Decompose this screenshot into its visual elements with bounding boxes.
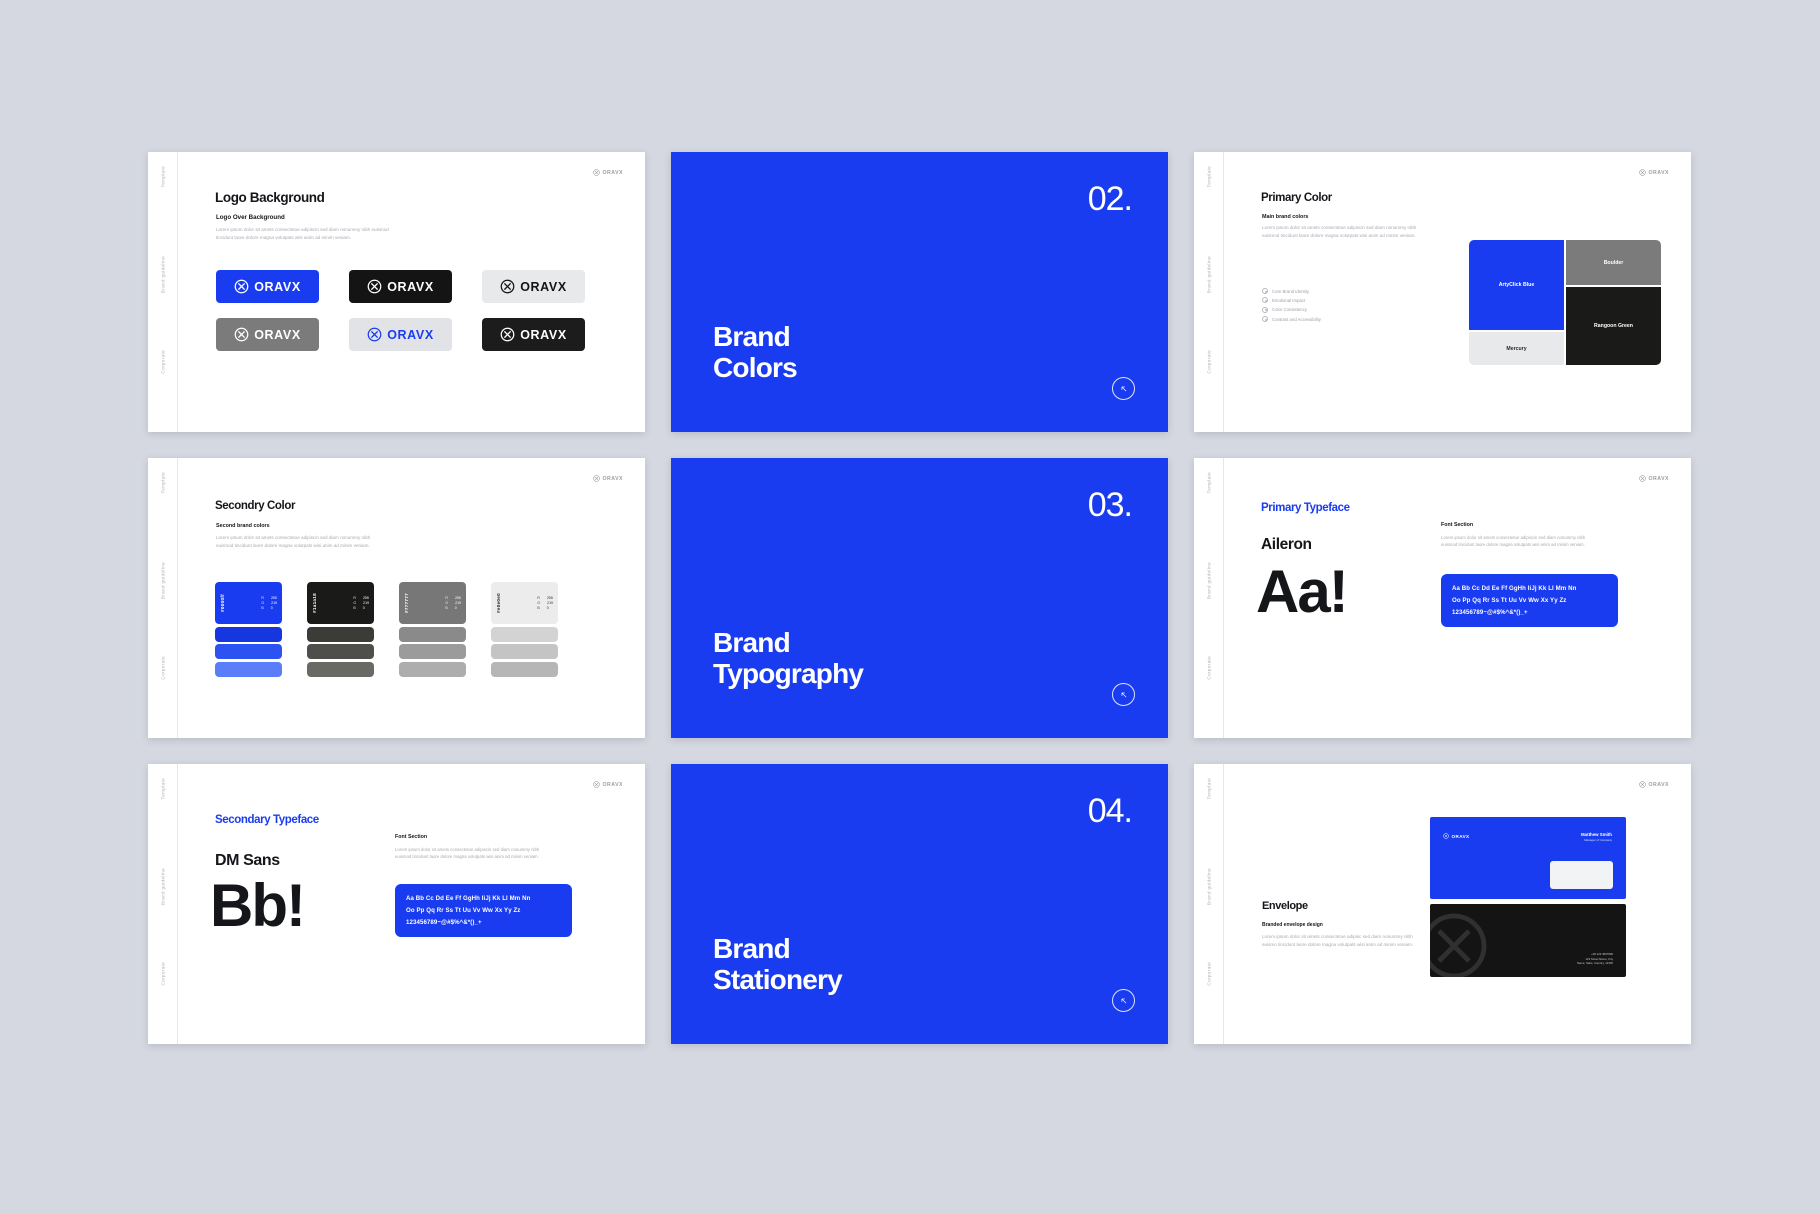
swatch-label: Rangoon Green (1594, 323, 1633, 329)
color-tone[interactable] (399, 627, 466, 642)
page-subtitle: Main brand colors (1262, 214, 1308, 220)
oravx-mark-icon (234, 279, 249, 294)
watermark-logo: ORAVX (1639, 475, 1669, 482)
watermark-text: ORAVX (1648, 476, 1669, 482)
color-tone[interactable] (307, 662, 374, 677)
watermark-text: ORAVX (1648, 170, 1669, 176)
section-title-line2: Stationery (713, 964, 842, 996)
color-stack[interactable]: #e0e0e0R255G219B0 (491, 582, 558, 677)
rail-label-brand-guideline: Brand guideline (160, 868, 165, 905)
page-title: Primary Color (1261, 192, 1332, 204)
bullet-target-icon (1262, 297, 1268, 303)
address-line-3: Name, State, Country, 12345 (1577, 961, 1613, 966)
bullet-label: Color Consistency (1272, 307, 1307, 312)
logo-on-black-2[interactable]: ORAVX (482, 318, 585, 351)
watermark-logo: ORAVX (593, 169, 623, 176)
color-tone[interactable] (215, 627, 282, 642)
watermark-text: ORAVX (602, 170, 623, 176)
oravx-mark-icon (1443, 833, 1449, 839)
envelope-back-black: +00 123 4567890 123 Street Name, City Na… (1430, 904, 1626, 977)
watermark-logo: ORAVX (1639, 169, 1669, 176)
recipient-name: Matthew Smith (1581, 832, 1612, 837)
color-tone[interactable] (491, 627, 558, 642)
section-title-line1: Brand (713, 321, 797, 353)
envelope-recipient: Matthew Smith Manager of Company (1581, 832, 1612, 842)
logo-wordmark: ORAVX (254, 280, 301, 294)
slide-board: Template Brand guideline Corporate ORAVX… (0, 0, 1820, 1214)
color-swatch[interactable]: ArtyClick Blue (1469, 240, 1564, 330)
page-subtitle: Branded envelope design (1262, 922, 1323, 928)
color-stack-head[interactable]: #1a1a18R255G219B0 (307, 582, 374, 624)
bullet-label: Core Brand Identity (1272, 289, 1309, 294)
feature-bullet-list: Core Brand IdentityEmotional ImpactColor… (1262, 288, 1321, 322)
oravx-mark-icon (1639, 169, 1646, 176)
character-set-line-3: 123456789~@#$%^&*()_+ (406, 919, 561, 926)
recipient-role: Manager of Company (1581, 838, 1612, 842)
side-rail: Template Brand guideline Corporate (148, 458, 178, 738)
character-set-line-2: Oo Pp Qq Rr Ss Tt Uu Vv Ww Xx Yy Zz (406, 907, 561, 914)
rail-label-corporate: Corporate (1206, 962, 1211, 986)
page-subtitle: Logo Over Background (216, 214, 285, 221)
oravx-mark-icon (234, 327, 249, 342)
font-section-paragraph: Lorem ipsum dolor sit amets consectetue … (1441, 534, 1596, 549)
font-name: DM Sans (215, 852, 280, 870)
color-swatch[interactable]: Rangoon Green (1566, 287, 1661, 365)
rail-label-corporate: Corporate (1206, 350, 1211, 374)
side-rail: Template Brand guideline Corporate (1194, 764, 1224, 1044)
side-rail: Template Brand guideline Corporate (1194, 458, 1224, 738)
envelope-front-blue: ORAVX Matthew Smith Manager of Company (1430, 817, 1626, 899)
section-title: Brand Typography (713, 627, 863, 690)
bullet-target-icon (1262, 288, 1268, 294)
logo-on-blue[interactable]: ORAVX (216, 270, 319, 303)
side-rail: Template Brand guideline Corporate (148, 764, 178, 1044)
color-stack[interactable]: #0000ffR255G219B0 (215, 582, 282, 677)
character-set-line-1: Aa Bb Cc Dd Ee Ff GgHh IiJj Kk Ll Mm Nn (406, 895, 561, 902)
logo-on-grey[interactable]: ORAVX (216, 318, 319, 351)
logo-wordmark: ORAVX (520, 280, 567, 294)
page-subtitle: Second brand colors (216, 523, 270, 529)
bullet-target-icon (1262, 307, 1268, 313)
swatch-hex: #1a1a18 (312, 593, 317, 613)
rail-label-corporate: Corporate (160, 656, 165, 680)
slide-primary-typeface[interactable]: Template Brand guideline Corporate ORAVX… (1194, 458, 1691, 738)
oravx-mark-icon (367, 279, 382, 294)
page-paragraph: Lorem ipsum dolor sit amets consectetue … (216, 534, 376, 550)
font-name: Aileron (1261, 536, 1312, 554)
slide-primary-color[interactable]: Template Brand guideline Corporate ORAVX… (1194, 152, 1691, 432)
swatch-label: Mercury (1506, 346, 1526, 352)
rail-label-template: Template (1206, 472, 1211, 493)
section-arrow-button[interactable] (1112, 683, 1135, 706)
oravx-mark-icon (367, 327, 382, 342)
envelope-address-window (1550, 861, 1613, 889)
color-tone[interactable] (215, 662, 282, 677)
watermark-logo: ORAVX (1639, 781, 1669, 788)
section-title-line2: Typography (713, 658, 863, 690)
character-set-line-1: Aa Bb Cc Dd Ee Ff GgHh IiJj Kk Ll Mm Nn (1452, 585, 1607, 592)
section-arrow-button[interactable] (1112, 377, 1135, 400)
page-paragraph: Lorem ipsum dolor sit amets consectetue … (216, 226, 391, 242)
slide-envelope[interactable]: Template Brand guideline Corporate ORAVX… (1194, 764, 1691, 1044)
character-set-box: Aa Bb Cc Dd Ee Ff GgHh IiJj Kk Ll Mm Nn … (1441, 574, 1618, 627)
watermark-text: ORAVX (1648, 782, 1669, 788)
feature-bullet-item: Contrast and Accessibility (1262, 316, 1321, 322)
color-swatch[interactable]: Boulder (1566, 240, 1661, 285)
color-stack-head[interactable]: #e0e0e0R255G219B0 (491, 582, 558, 624)
watermark-text: ORAVX (602, 476, 623, 482)
envelope-logo: ORAVX (1443, 833, 1470, 839)
rail-label-corporate: Corporate (160, 962, 165, 986)
rail-label-template: Template (1206, 166, 1211, 187)
arrow-up-left-icon (1119, 996, 1129, 1006)
page-title: Secondry Color (215, 500, 295, 512)
section-number: 04. (1088, 792, 1132, 831)
rail-label-template: Template (160, 778, 165, 799)
swatch-rgb: R255G219B0 (537, 596, 553, 611)
page-paragraph: Lorem ipsum dolor sit amets consectetue … (1262, 224, 1418, 240)
section-title-line2: Colors (713, 352, 797, 384)
oravx-mark-icon (1639, 781, 1646, 788)
page-title: Secondary Typeface (215, 814, 319, 826)
page-title: Primary Typeface (1261, 502, 1350, 514)
feature-bullet-item: Core Brand Identity (1262, 288, 1321, 294)
page-title: Envelope (1262, 900, 1308, 912)
character-set-line-2: Oo Pp Qq Rr Ss Tt Uu Vv Ww Xx Yy Zz (1452, 597, 1607, 604)
font-glyph-sample: Bb! (210, 876, 304, 936)
slide-secondary-typeface[interactable]: Template Brand guideline Corporate ORAVX… (148, 764, 645, 1044)
character-set-box: Aa Bb Cc Dd Ee Ff GgHh IiJj Kk Ll Mm Nn … (395, 884, 572, 937)
logo-wordmark: ORAVX (520, 328, 567, 342)
swatch-hex: #e0e0e0 (496, 593, 501, 613)
watermark-text: ORAVX (602, 782, 623, 788)
color-tone[interactable] (491, 644, 558, 659)
swatch-label: Boulder (1604, 260, 1624, 266)
secondary-swatch-stacks: #0000ffR255G219B0#1a1a18R255G219B0#77777… (215, 582, 558, 677)
logo-wordmark: ORAVX (387, 280, 434, 294)
swatch-rgb: R255G219B0 (353, 596, 369, 611)
color-stack-head[interactable]: #777777R255G219B0 (399, 582, 466, 624)
arrow-up-left-icon (1119, 690, 1129, 700)
color-stack[interactable]: #1a1a18R255G219B0 (307, 582, 374, 677)
logo-blue-on-light[interactable]: ORAVX (349, 318, 452, 351)
bullet-label: Emotional Impact (1272, 298, 1305, 303)
logo-on-light[interactable]: ORAVX (482, 270, 585, 303)
font-section-paragraph: Lorem ipsum dolor sit amets consectetue … (395, 846, 550, 861)
color-stack[interactable]: #777777R255G219B0 (399, 582, 466, 677)
section-number: 02. (1088, 180, 1132, 219)
oravx-mark-icon (500, 327, 515, 342)
rail-label-brand-guideline: Brand guideline (1206, 562, 1211, 599)
character-set-line-3: 123456789~@#$%^&*()_+ (1452, 609, 1607, 616)
rail-label-template: Template (160, 166, 165, 187)
slide-section-brand-colors[interactable]: 02. Brand Colors (671, 152, 1168, 432)
side-rail: Template Brand guideline Corporate (148, 152, 178, 432)
oravx-mark-icon (500, 279, 515, 294)
section-title: Brand Stationery (713, 933, 842, 996)
swatch-label: ArtyClick Blue (1499, 282, 1534, 288)
slide-section-brand-stationery[interactable]: 04. Brand Stationery (671, 764, 1168, 1044)
rail-label-brand-guideline: Brand guideline (160, 256, 165, 293)
font-section-label: Font Section (395, 834, 427, 840)
slide-logo-background[interactable]: Template Brand guideline Corporate ORAVX… (148, 152, 645, 432)
feature-bullet-item: Color Consistency (1262, 307, 1321, 313)
color-tone[interactable] (307, 644, 374, 659)
font-section-label: Font Section (1441, 522, 1473, 528)
oravx-mark-icon (593, 781, 600, 788)
color-tone[interactable] (307, 627, 374, 642)
watermark-logo: ORAVX (593, 781, 623, 788)
page-title: Logo Background (215, 190, 325, 205)
section-title: Brand Colors (713, 321, 797, 384)
oravx-mark-icon (1639, 475, 1646, 482)
oravx-watermark-icon (1430, 910, 1490, 977)
swatch-hex: #0000ff (220, 594, 225, 612)
swatch-rgb: R255G219B0 (445, 596, 461, 611)
swatch-rgb: R255G219B0 (261, 596, 277, 611)
rail-label-corporate: Corporate (160, 350, 165, 374)
page-paragraph: Lorem ipsum dolor sit amets consectetue … (1262, 933, 1414, 949)
color-swatch[interactable]: Mercury (1469, 332, 1564, 365)
section-title-line1: Brand (713, 627, 863, 659)
slide-secondary-color[interactable]: Template Brand guideline Corporate ORAVX… (148, 458, 645, 738)
section-arrow-button[interactable] (1112, 989, 1135, 1012)
swatch-hex: #777777 (404, 593, 409, 613)
color-tone[interactable] (399, 644, 466, 659)
rail-label-template: Template (160, 472, 165, 493)
bullet-target-icon (1262, 316, 1268, 322)
rail-label-brand-guideline: Brand guideline (1206, 256, 1211, 293)
color-tone[interactable] (215, 644, 282, 659)
logo-wordmark: ORAVX (387, 328, 434, 342)
watermark-logo: ORAVX (593, 475, 623, 482)
rail-label-brand-guideline: Brand guideline (1206, 868, 1211, 905)
rail-label-brand-guideline: Brand guideline (160, 562, 165, 599)
arrow-up-left-icon (1119, 384, 1129, 394)
envelope-address: +00 123 4567890 123 Street Name, City Na… (1577, 952, 1613, 966)
section-number: 03. (1088, 486, 1132, 525)
logo-variant-grid: ORAVXORAVXORAVXORAVXORAVXORAVX (216, 270, 585, 351)
oravx-mark-icon (593, 169, 600, 176)
oravx-mark-icon (593, 475, 600, 482)
rail-label-template: Template (1206, 778, 1211, 799)
envelope-wordmark: ORAVX (1452, 834, 1470, 839)
logo-on-black[interactable]: ORAVX (349, 270, 452, 303)
side-rail: Template Brand guideline Corporate (1194, 152, 1224, 432)
rail-label-corporate: Corporate (1206, 656, 1211, 680)
color-stack-head[interactable]: #0000ffR255G219B0 (215, 582, 282, 624)
color-tone[interactable] (491, 662, 558, 677)
section-title-line1: Brand (713, 933, 842, 965)
color-tone[interactable] (399, 662, 466, 677)
slide-section-brand-typography[interactable]: 03. Brand Typography (671, 458, 1168, 738)
font-glyph-sample: Aa! (1256, 562, 1347, 622)
feature-bullet-item: Emotional Impact (1262, 297, 1321, 303)
logo-wordmark: ORAVX (254, 328, 301, 342)
primary-swatch-grid: ArtyClick BlueBoulderRangoon GreenMercur… (1469, 240, 1661, 365)
bullet-label: Contrast and Accessibility (1272, 317, 1321, 322)
